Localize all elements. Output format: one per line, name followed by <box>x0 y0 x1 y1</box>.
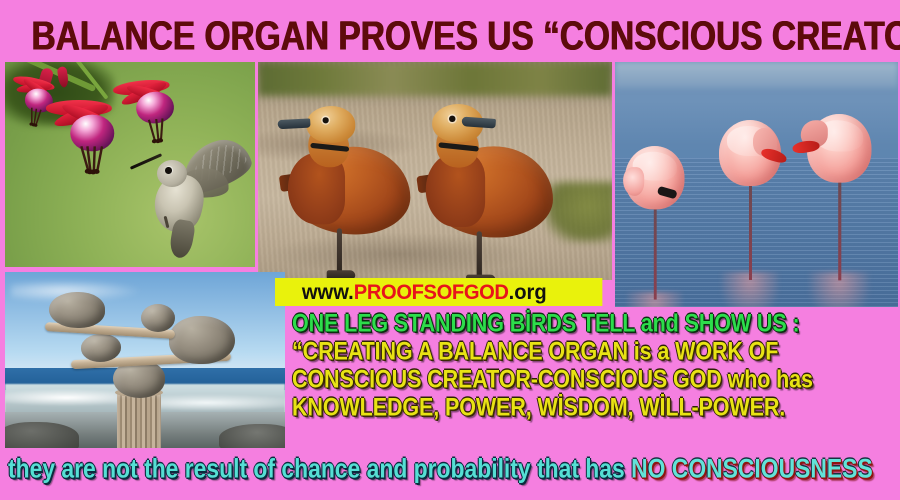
photo-balance-stones <box>5 272 285 448</box>
url-suffix: .org <box>509 282 547 303</box>
message-line-4: KNOWLEDGE, POWER, WİSDOM, WİLL-POWER. <box>292 393 900 423</box>
photo-hummingbird <box>5 62 255 267</box>
flamingo-leg <box>838 178 841 280</box>
duck-leg <box>337 228 342 273</box>
duck-head <box>306 106 355 143</box>
wooden-post <box>117 392 161 448</box>
background-grass <box>258 62 612 96</box>
duck-eye <box>449 116 455 122</box>
duck-beak <box>278 118 311 129</box>
balancing-stone <box>169 316 235 364</box>
url-prefix: www. <box>302 282 354 303</box>
shore-rock <box>5 422 79 448</box>
hummingbird <box>137 138 247 256</box>
website-url-banner[interactable]: www. PROOFSOFGOD .org <box>275 278 602 306</box>
flamingo-leg <box>749 182 752 280</box>
shore-rock <box>219 424 285 448</box>
flower-stamens <box>80 146 107 178</box>
url-domain: PROOFSOFGOD <box>354 282 509 303</box>
hummingbird-head <box>157 160 187 187</box>
horizon-band <box>615 62 898 88</box>
message-line-2: “CREATING A BALANCE ORGAN is a WORK OF <box>292 337 900 367</box>
message-line-1: ONE LEG STANDING BİRDS TELL and SHOW US … <box>292 309 900 339</box>
footer-statement: they are not the result of chance and pr… <box>8 452 896 484</box>
footer-text-main: they are not the result of chance and pr… <box>8 453 631 483</box>
balancing-stone <box>49 292 105 328</box>
flamingo-head <box>623 167 644 196</box>
page-title: BALANCE ORGAN PROVES US “CONSCIOUS CREAT… <box>32 11 869 60</box>
message-line-3: CONSCIOUS CREATOR-CONSCIOUS GOD who has <box>292 365 900 395</box>
duck-eye <box>323 117 329 123</box>
footer-text-highlight: NO CONSCIOUSNESS <box>631 453 873 483</box>
flamingo-leg <box>654 206 657 300</box>
message-text-block: ONE LEG STANDING BİRDS TELL and SHOW US … <box>292 309 900 421</box>
poster-canvas: BALANCE ORGAN PROVES US “CONSCIOUS CREAT… <box>0 0 900 500</box>
photo-flamingos <box>615 62 898 307</box>
background-grass <box>546 182 612 242</box>
photo-ducks <box>258 62 612 280</box>
hummingbird-eye <box>165 167 172 174</box>
duck-leg <box>477 231 482 278</box>
flower-stamens <box>25 107 46 130</box>
balancing-stone <box>141 304 175 332</box>
